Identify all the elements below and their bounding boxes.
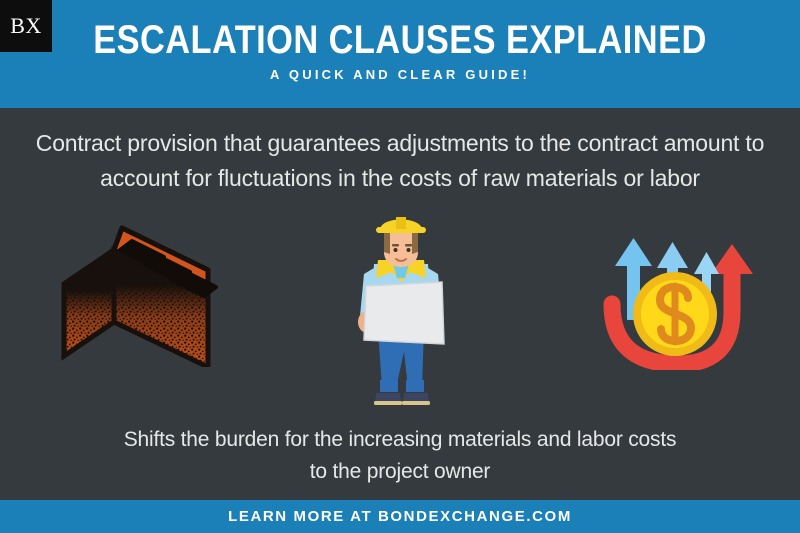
shifts-line-2: to the project owner — [0, 456, 800, 488]
construction-worker-icon — [338, 212, 464, 422]
page-subtitle: A QUICK AND CLEAR GUIDE! — [0, 67, 800, 82]
footer-cta-text: LEARN MORE AT BONDEXCHANGE.COM — [228, 508, 572, 525]
definition-text: Contract provision that guarantees adjus… — [0, 126, 800, 196]
footer-cta-bar[interactable]: LEARN MORE AT BONDEXCHANGE.COM — [0, 500, 800, 533]
definition-line-2: account for fluctuations in the costs of… — [0, 161, 800, 196]
infographic-canvas: BX ESCALATION CLAUSES EXPLAINED A QUICK … — [0, 0, 800, 533]
logo-text: BX — [10, 15, 42, 37]
shifts-line-1: Shifts the burden for the increasing mat… — [0, 424, 800, 456]
logo-badge[interactable]: BX — [0, 0, 52, 52]
definition-line-1: Contract provision that guarantees adjus… — [0, 126, 800, 161]
page-title: ESCALATION CLAUSES EXPLAINED — [56, 18, 744, 62]
brick-icon — [58, 222, 238, 372]
header-banner: BX ESCALATION CLAUSES EXPLAINED A QUICK … — [0, 0, 800, 108]
shifts-text: Shifts the burden for the increasing mat… — [0, 424, 800, 488]
rising-cost-icon — [592, 230, 764, 375]
